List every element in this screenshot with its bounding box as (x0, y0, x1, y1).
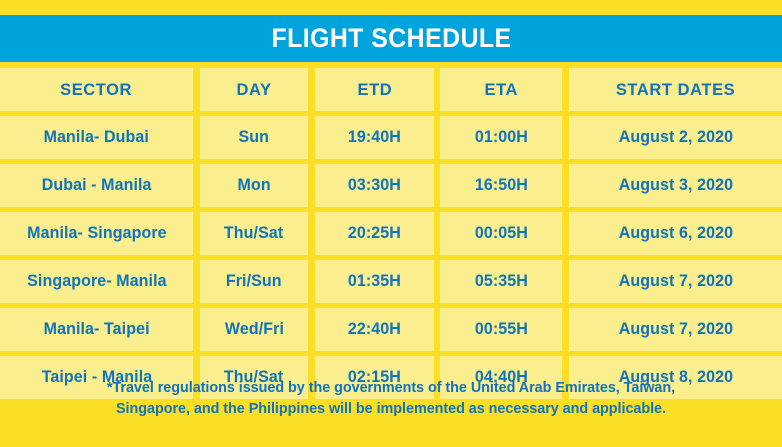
flight-schedule-table: SECTOR DAY ETD ETA START DATES Manila- D… (0, 68, 782, 399)
cell-start-date-value: August 3, 2020 (618, 176, 732, 195)
cell-day: Fri/Sun (200, 260, 308, 303)
cell-eta: 01:00H (440, 116, 562, 159)
column-header-start-dates-label: START DATES (616, 80, 735, 100)
cell-eta: 00:05H (440, 212, 562, 255)
footnote: *Travel regulations issued by the govern… (0, 377, 782, 420)
cell-day-value: Thu/Sat (224, 224, 283, 243)
cell-etd: 01:35H (315, 260, 434, 303)
cell-etd-value: 22:40H (348, 320, 401, 339)
cell-etd: 19:40H (315, 116, 434, 159)
cell-start-date: August 2, 2020 (569, 116, 782, 159)
title-bar: FLIGHT SCHEDULE (0, 15, 782, 62)
cell-eta-value: 00:05H (474, 224, 527, 243)
table-row: Manila- Taipei Wed/Fri 22:40H 00:55H Aug… (0, 308, 782, 351)
cell-eta: 16:50H (440, 164, 562, 207)
cell-sector-value: Manila- Dubai (44, 128, 149, 147)
cell-day: Sun (200, 116, 308, 159)
cell-eta: 00:55H (440, 308, 562, 351)
cell-etd: 03:30H (315, 164, 434, 207)
cell-sector: Manila- Singapore (0, 212, 193, 255)
table-row: Dubai - Manila Mon 03:30H 16:50H August … (0, 164, 782, 207)
cell-sector: Dubai - Manila (0, 164, 193, 207)
cell-etd-value: 03:30H (348, 176, 401, 195)
column-header-eta-label: ETA (484, 80, 518, 100)
cell-start-date-value: August 6, 2020 (618, 224, 732, 243)
cell-eta: 05:35H (440, 260, 562, 303)
cell-etd-value: 19:40H (348, 128, 401, 147)
cell-day-value: Wed/Fri (224, 320, 283, 339)
cell-start-date-value: August 2, 2020 (618, 128, 732, 147)
column-header-day: DAY (200, 68, 308, 111)
column-header-etd-label: ETD (357, 80, 392, 100)
cell-sector: Singapore- Manila (0, 260, 193, 303)
cell-sector-value: Singapore- Manila (27, 272, 166, 291)
table-row: Manila- Dubai Sun 19:40H 01:00H August 2… (0, 116, 782, 159)
column-header-sector: SECTOR (0, 68, 193, 111)
cell-sector-value: Dubai - Manila (42, 176, 152, 195)
column-header-eta: ETA (440, 68, 562, 111)
cell-etd: 22:40H (315, 308, 434, 351)
column-header-etd: ETD (315, 68, 434, 111)
cell-day-value: Sun (239, 128, 270, 147)
cell-eta-value: 00:55H (474, 320, 527, 339)
column-header-day-label: DAY (236, 80, 271, 100)
cell-eta-value: 05:35H (474, 272, 527, 291)
table-row: Singapore- Manila Fri/Sun 01:35H 05:35H … (0, 260, 782, 303)
cell-eta-value: 16:50H (474, 176, 527, 195)
cell-start-date: August 6, 2020 (569, 212, 782, 255)
cell-etd: 20:25H (315, 212, 434, 255)
cell-sector-value: Manila- Taipei (43, 320, 149, 339)
cell-start-date-value: August 7, 2020 (618, 272, 732, 291)
cell-day-value: Fri/Sun (226, 272, 282, 291)
cell-day: Mon (200, 164, 308, 207)
footnote-line-1: *Travel regulations issued by the govern… (37, 377, 745, 398)
cell-day-value: Mon (237, 176, 270, 195)
cell-day: Wed/Fri (200, 308, 308, 351)
cell-start-date: August 3, 2020 (569, 164, 782, 207)
cell-sector: Manila- Taipei (0, 308, 193, 351)
cell-start-date-value: August 7, 2020 (618, 320, 732, 339)
table-row: Manila- Singapore Thu/Sat 20:25H 00:05H … (0, 212, 782, 255)
cell-start-date: August 7, 2020 (569, 308, 782, 351)
cell-eta-value: 01:00H (474, 128, 527, 147)
cell-etd-value: 01:35H (348, 272, 401, 291)
cell-etd-value: 20:25H (348, 224, 401, 243)
cell-sector: Manila- Dubai (0, 116, 193, 159)
page-title: FLIGHT SCHEDULE (271, 25, 511, 52)
flight-schedule-poster: FLIGHT SCHEDULE SECTOR DAY ETD ETA START… (0, 0, 782, 447)
footnote-line-2: Singapore, and the Philippines will be i… (37, 398, 745, 419)
cell-start-date: August 7, 2020 (569, 260, 782, 303)
column-header-start-dates: START DATES (569, 68, 782, 111)
column-header-sector-label: SECTOR (61, 80, 133, 100)
table-header-row: SECTOR DAY ETD ETA START DATES (0, 68, 782, 111)
cell-day: Thu/Sat (200, 212, 308, 255)
cell-sector-value: Manila- Singapore (27, 224, 166, 243)
